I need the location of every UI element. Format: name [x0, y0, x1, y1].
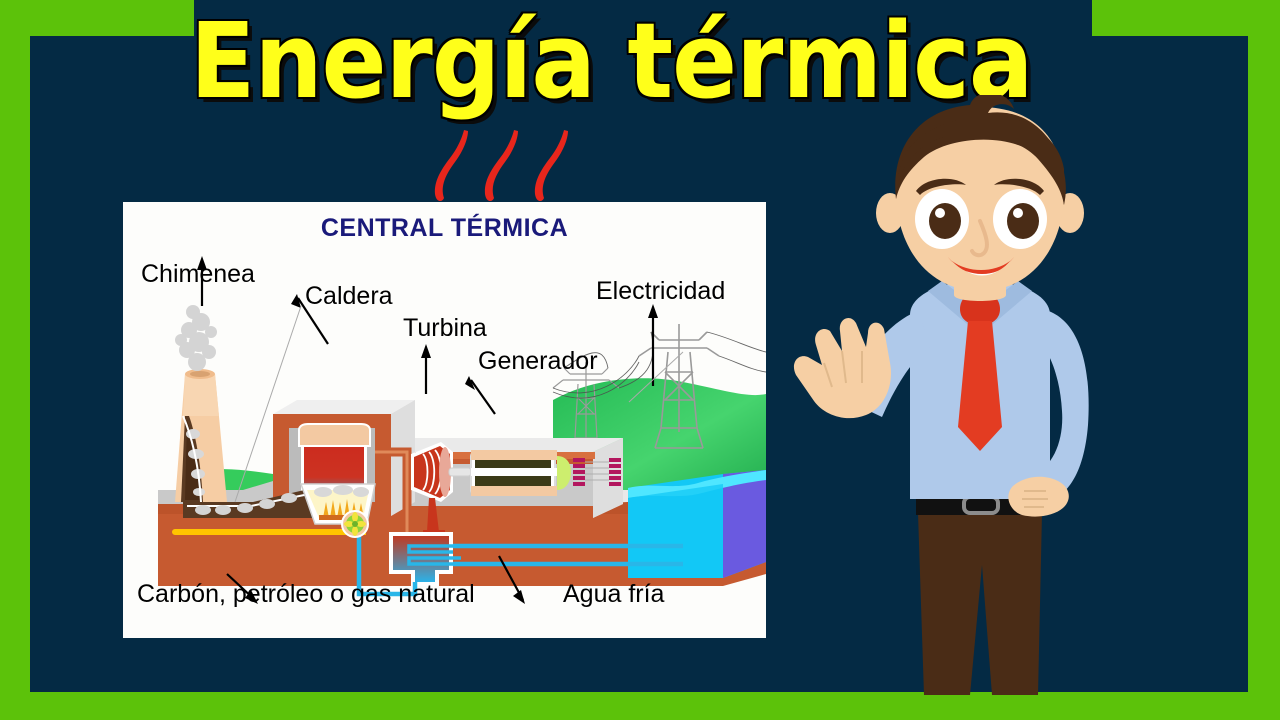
- frame-border-left: [0, 0, 30, 720]
- frame-border-top-left: [0, 0, 194, 36]
- frame-border-top-right: [1092, 0, 1280, 36]
- frame-border-bottom: [0, 692, 1280, 720]
- heat-wave-icon: [535, 130, 568, 201]
- heat-wave-icon: [485, 130, 518, 201]
- label-agua-fria: Agua fría: [563, 580, 664, 609]
- thermal-plant-diagram: CENTRAL TÉRMICA Chimenea Caldera Turbina…: [123, 202, 766, 638]
- heat-wave-group: [430, 128, 580, 203]
- diagram-heading: CENTRAL TÉRMICA: [123, 214, 766, 243]
- slide-canvas: Energía térmica: [0, 0, 1280, 720]
- frame-border-right: [1248, 0, 1280, 720]
- label-combustible: Carbón, petróleo o gas natural: [137, 580, 475, 609]
- label-caldera: Caldera: [305, 282, 393, 311]
- label-electricidad: Electricidad: [596, 277, 725, 306]
- label-turbina: Turbina: [403, 314, 487, 343]
- presenter-character: [770, 95, 1190, 695]
- pants: [918, 513, 1042, 695]
- label-generador: Generador: [478, 347, 598, 376]
- waving-hand: [794, 318, 891, 418]
- heat-wave-icon: [435, 130, 468, 201]
- label-chimenea: Chimenea: [141, 260, 255, 289]
